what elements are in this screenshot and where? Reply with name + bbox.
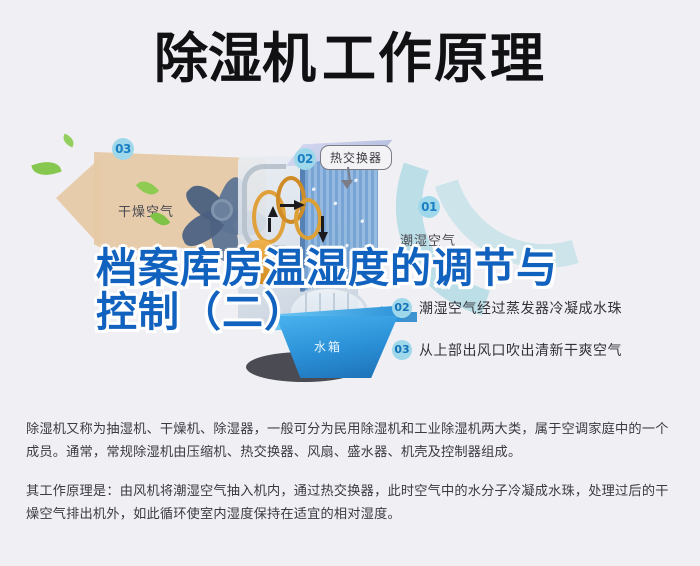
water-tank-label: 水箱 [314,338,342,355]
page-title-part-one: 除湿机 [154,27,316,90]
legend-item: 03 从上部出风口吹出清新干爽空气 [392,340,622,360]
flow-arrow-up-icon [268,206,278,217]
infographic-page: 除湿机工作原理 干燥空气 [0,0,700,566]
flow-arrow-up-icon [268,218,271,232]
body-paragraph-1: 除湿机又称为抽湿机、干燥机、除湿器，一般可分为民用除湿机和工业除湿机两大类，属于… [26,418,678,464]
page-title-part-two: 工作原理 [322,27,546,90]
marker-badge-01: 01 [418,196,440,218]
article-title-overlay: 档案库房温湿度的调节与控制（二） [96,246,566,334]
heat-exchanger-callout: 热交换器 [320,145,392,170]
flow-arrow-right-icon [294,200,305,210]
flow-arrow-down-icon [321,216,324,232]
article-body: 除湿机又称为抽湿机、干燥机、除湿器，一般可分为民用除湿机和工业除湿机两大类，属于… [26,418,678,526]
marker-badge-02: 02 [294,148,316,170]
legend-badge: 03 [392,340,412,360]
legend-label: 从上部出风口吹出清新干爽空气 [419,340,622,360]
body-paragraph-2: 其工作原理是：由风机将潮湿空气抽入机内，通过热交换器，此时空气中的水分子冷凝成水… [26,480,678,526]
flow-arrow-down-icon [318,232,328,243]
marker-badge-03: 03 [112,138,134,160]
callout-pointer-icon [341,180,353,189]
leaf-icon [61,133,77,147]
page-title: 除湿机工作原理 [0,28,700,90]
